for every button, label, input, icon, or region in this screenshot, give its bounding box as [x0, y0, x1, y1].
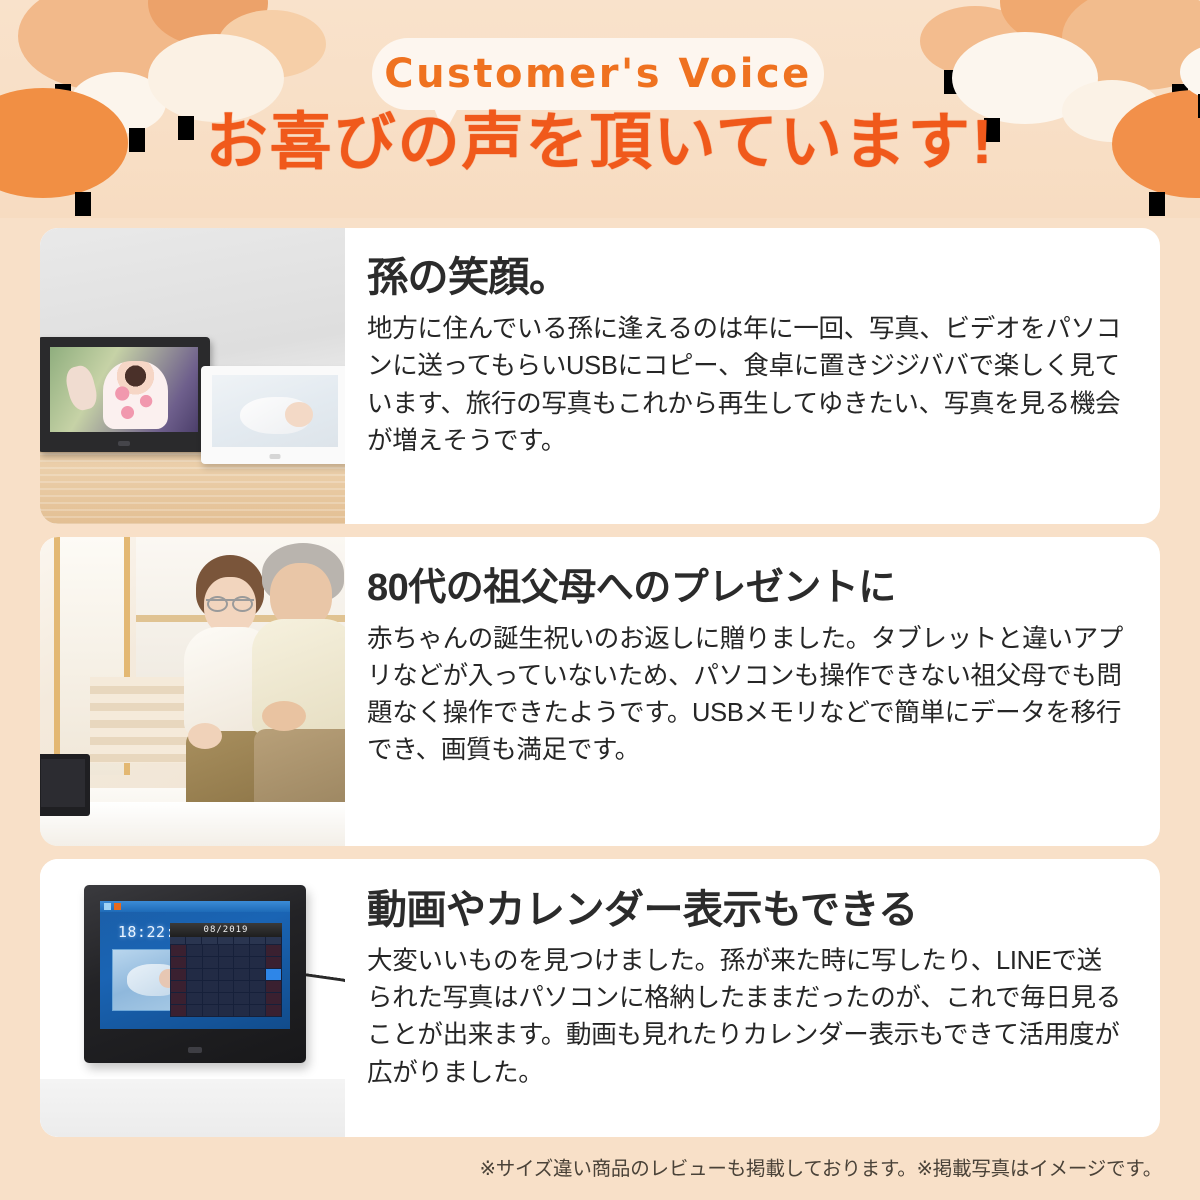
memory-card-icon: [104, 903, 111, 910]
calendar-month-label: 08/2019: [170, 923, 282, 937]
calendar-day-cell: [250, 993, 265, 1004]
calendar-day-cell: [187, 993, 202, 1004]
calendar-day-cell: [234, 981, 249, 992]
calendar-day-cell: [250, 957, 265, 968]
app-icon: [114, 903, 121, 910]
calendar-day-cell: [250, 981, 265, 992]
testimonial-card: 80代の祖父母へのプレゼントに 赤ちゃんの誕生祝いのお返しに贈りました。タブレッ…: [40, 537, 1160, 846]
photo-frame-clock-calendar-display: 18:22:01 08/2019: [40, 859, 345, 1137]
testimonial-text-block: 動画やカレンダー表示もできる 大変いいものを見つけました。孫が来た時に写したり、…: [345, 859, 1160, 1137]
calendar-day-cell: [187, 957, 202, 968]
calendar-day-cell: [266, 981, 281, 992]
weekday-cell: [202, 937, 218, 944]
calendar-day-cell: [203, 1005, 218, 1016]
testimonial-title: 80代の祖父母へのプレゼントに: [367, 567, 1126, 611]
weekday-cell: [170, 937, 186, 944]
baby-head-shape: [285, 402, 313, 426]
white-photo-frame: [201, 366, 345, 464]
device-screen: 18:22:01 08/2019: [100, 901, 290, 1029]
weekday-cell: [250, 937, 266, 944]
weekday-cell: [186, 937, 202, 944]
weekday-cell: [266, 937, 282, 944]
calendar-day-cell: [234, 945, 249, 956]
testimonial-title: 動画やカレンダー表示もできる: [367, 887, 1126, 933]
calendar-day-grid: [170, 944, 282, 1017]
hand-shape: [262, 701, 306, 731]
calendar-day-cell: [171, 957, 186, 968]
photo-elderly-couple-viewing-frame: [40, 537, 345, 846]
calendar-day-cell: [250, 969, 265, 980]
calendar-day-cell: [187, 1005, 202, 1016]
testimonial-text-block: 80代の祖父母へのプレゼントに 赤ちゃんの誕生祝いのお返しに贈りました。タブレッ…: [345, 537, 1160, 846]
calendar-day-cell: [234, 993, 249, 1004]
page-title: お喜びの声を頂いています!: [0, 112, 1200, 174]
calendar-day-cell: [234, 957, 249, 968]
calendar-day-cell: [266, 957, 281, 968]
frame-power-button: [270, 454, 281, 459]
digital-photo-frame-on-table: [40, 754, 90, 816]
photo-two-digital-photo-frames-on-desk: [40, 228, 345, 524]
testimonial-body: 大変いいものを見つけました。孫が来た時に写したり、LINEで送られた写真はパソコ…: [367, 943, 1126, 1092]
calendar-day-cell: [171, 993, 186, 1004]
calendar-day-cell: [234, 1005, 249, 1016]
calendar-day-cell: [266, 993, 281, 1004]
customers-voice-label: Customer's Voice: [384, 51, 812, 97]
calendar-day-cell: [203, 969, 218, 980]
calendar-day-cell: [203, 957, 218, 968]
calendar-day-cell: [266, 945, 281, 956]
status-bar: [100, 901, 290, 912]
calendar-day-cell: [203, 993, 218, 1004]
testimonial-body: 赤ちゃんの誕生祝いのお返しに贈りました。タブレットと違いアプリなどが入っていない…: [367, 621, 1126, 770]
frame-screen: [41, 759, 85, 807]
calendar-day-cell: [171, 969, 186, 980]
calendar-day-cell: [219, 1005, 234, 1016]
calendar-day-cell: [171, 945, 186, 956]
testimonial-card: 18:22:01 08/2019: [40, 859, 1160, 1137]
disclaimer-note: ※サイズ違い商品のレビューも掲載しております。※掲載写真はイメージです。: [0, 1152, 1200, 1181]
testimonial-card: 孫の笑顔。 地方に住んでいる孫に逢えるのは年に一回、写真、ビデオをパソコンに送っ…: [40, 228, 1160, 524]
trousers-shape: [254, 729, 345, 813]
calendar-day-cell: [234, 969, 249, 980]
calendar-day-cell: [266, 969, 281, 980]
surface: [40, 1079, 345, 1137]
calendar-day-cell: [187, 945, 202, 956]
product-photo-background: 18:22:01 08/2019: [40, 859, 345, 1137]
calendar-day-cell: [203, 981, 218, 992]
device-power-button: [188, 1047, 202, 1053]
frame-power-button: [118, 441, 130, 446]
calendar-day-cell: [187, 969, 202, 980]
testimonial-title: 孫の笑顔。: [367, 254, 1126, 301]
calendar-day-cell: [171, 981, 186, 992]
calendar-day-cell: [250, 1005, 265, 1016]
calendar-day-cell: [219, 993, 234, 1004]
arm-shape: [63, 363, 100, 412]
customers-voice-badge: Customer's Voice: [372, 38, 824, 110]
calendar-widget: 08/2019: [170, 923, 282, 1017]
eyeglasses-icon: [206, 599, 254, 609]
elderly-man-figure: [252, 543, 345, 811]
living-room-scene: [40, 537, 345, 846]
calendar-day-cell: [187, 981, 202, 992]
hand-shape: [188, 723, 222, 749]
black-photo-frame: [40, 337, 210, 452]
testimonial-text-block: 孫の笑顔。 地方に住んでいる孫に逢えるのは年に一回、写真、ビデオをパソコンに送っ…: [345, 228, 1160, 524]
calendar-day-cell: [219, 981, 234, 992]
calendar-day-cell: [250, 945, 265, 956]
calendar-day-cell: [219, 969, 234, 980]
calendar-day-cell: [219, 957, 234, 968]
calendar-day-cell: [266, 1005, 281, 1016]
testimonial-list: 孫の笑顔。 地方に住んでいる孫に逢えるのは年に一回、写真、ビデオをパソコンに送っ…: [40, 228, 1160, 1150]
white-frame-screen: [212, 375, 338, 447]
calendar-day-cell: [219, 945, 234, 956]
digital-photo-frame-device: 18:22:01 08/2019: [84, 885, 306, 1063]
kimono-pattern: [109, 384, 162, 421]
hero-banner: Customer's Voice お喜びの声を頂いています!: [0, 0, 1200, 218]
weekday-cell: [234, 937, 250, 944]
black-frame-screen: [50, 347, 198, 432]
calendar-day-cell: [203, 945, 218, 956]
weekday-cell: [218, 937, 234, 944]
testimonial-body: 地方に住んでいる孫に逢えるのは年に一回、写真、ビデオをパソコンに送ってもらいUS…: [367, 311, 1126, 460]
calendar-weekday-row: [170, 937, 282, 944]
calendar-day-cell: [171, 1005, 186, 1016]
